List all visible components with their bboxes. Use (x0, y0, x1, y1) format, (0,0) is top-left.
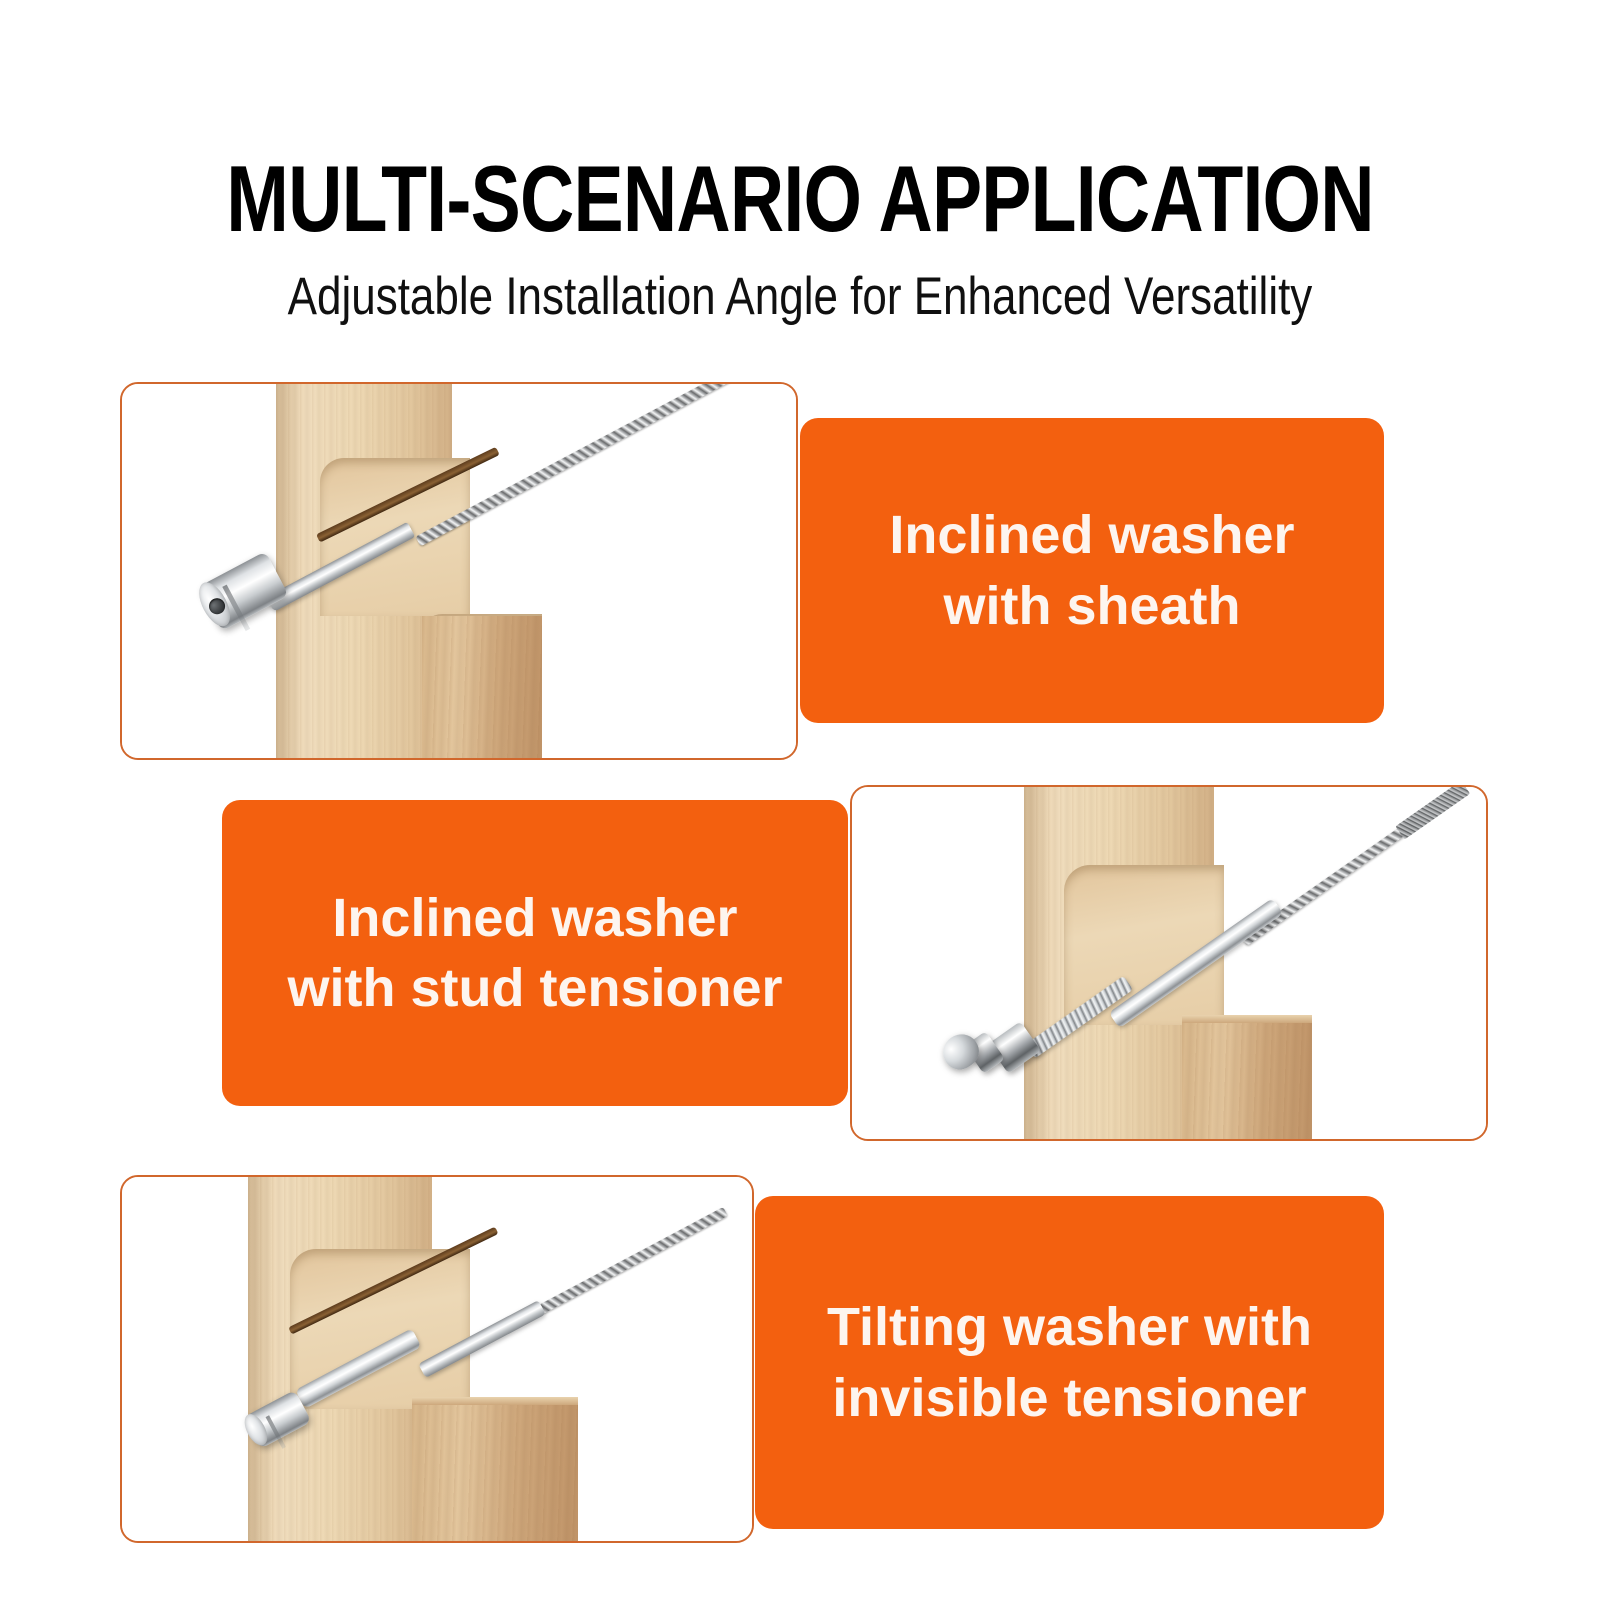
steel-cable (538, 1207, 728, 1314)
steel-cable (1241, 817, 1419, 946)
page-title: MULTI-SCENARIO APPLICATION (160, 152, 1440, 246)
dome-cap (936, 1027, 985, 1075)
wood-board (412, 1399, 578, 1543)
feature-caption-3: Tilting washer with invisible tensioner (801, 1292, 1338, 1432)
feature-caption-panel-2: Inclined washer with stud tensioner (222, 800, 848, 1106)
wood-board-edge (1182, 1015, 1312, 1023)
page-subtitle: Adjustable Installation Angle for Enhanc… (136, 270, 1464, 323)
wood-post-shade (248, 1175, 294, 1543)
cable-frayed-tip (1395, 785, 1470, 840)
feature-photo-1 (120, 382, 798, 760)
feature-photo-2 (850, 785, 1488, 1141)
wood-board (1182, 1017, 1312, 1141)
scene-inclined-washer-stud-tensioner (852, 787, 1486, 1139)
feature-caption-panel-1: Inclined washer with sheath (800, 418, 1384, 723)
feature-photo-3 (120, 1175, 754, 1543)
wood-board-edge (412, 1397, 578, 1405)
header: MULTI-SCENARIO APPLICATION Adjustable In… (0, 0, 1600, 323)
feature-caption-1: Inclined washer with sheath (863, 500, 1320, 640)
scene-tilting-washer-invisible-tensioner (122, 1177, 752, 1541)
scene-inclined-washer-sheath (122, 384, 796, 758)
feature-caption-panel-3: Tilting washer with invisible tensioner (755, 1196, 1384, 1529)
feature-caption-2: Inclined washer with stud tensioner (261, 883, 808, 1023)
wood-board (422, 616, 542, 760)
